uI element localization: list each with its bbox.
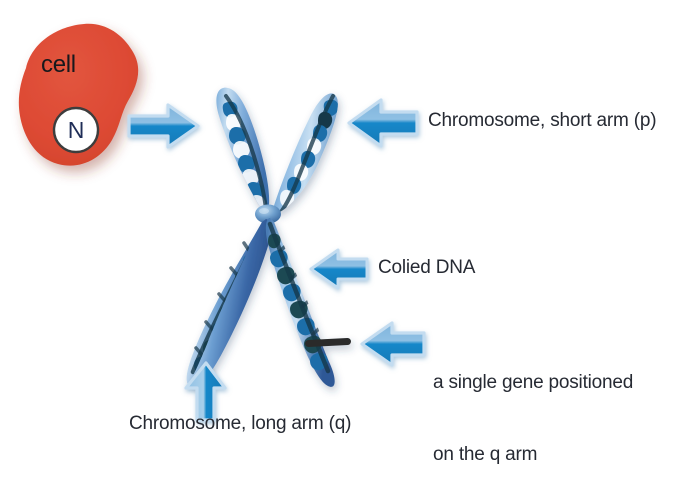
chromosome-short-arm-right [272,93,339,213]
arrow-single-gene [362,323,424,365]
long-arm-label: Chromosome, long arm (q) [129,412,351,436]
nucleus-label: N [55,109,97,151]
arrow-short-arm [349,100,417,146]
chromosome-long-arm-left [187,219,271,387]
single-gene-label-line2: on the q arm [433,443,633,467]
coiled-dna-label: Colied DNA [378,256,475,280]
cell-label: cell [41,51,76,79]
arrow-cell-to-chromosome [129,105,198,147]
coiled-dna-q-right [268,224,328,371]
chromosome-diagram: cell N Chromosome, short arm (p) Colied … [0,0,700,494]
single-gene-label-line1: a single gene positioned [433,371,633,395]
short-arm-label: Chromosome, short arm (p) [428,109,656,133]
chromosome-short-arm-left [216,88,269,212]
chromosome-long-arm-right [266,218,351,387]
arrow-coiled-dna [311,250,367,288]
single-gene-label: a single gene positioned on the q arm [433,323,633,494]
coiled-dna-p-right [280,96,339,212]
